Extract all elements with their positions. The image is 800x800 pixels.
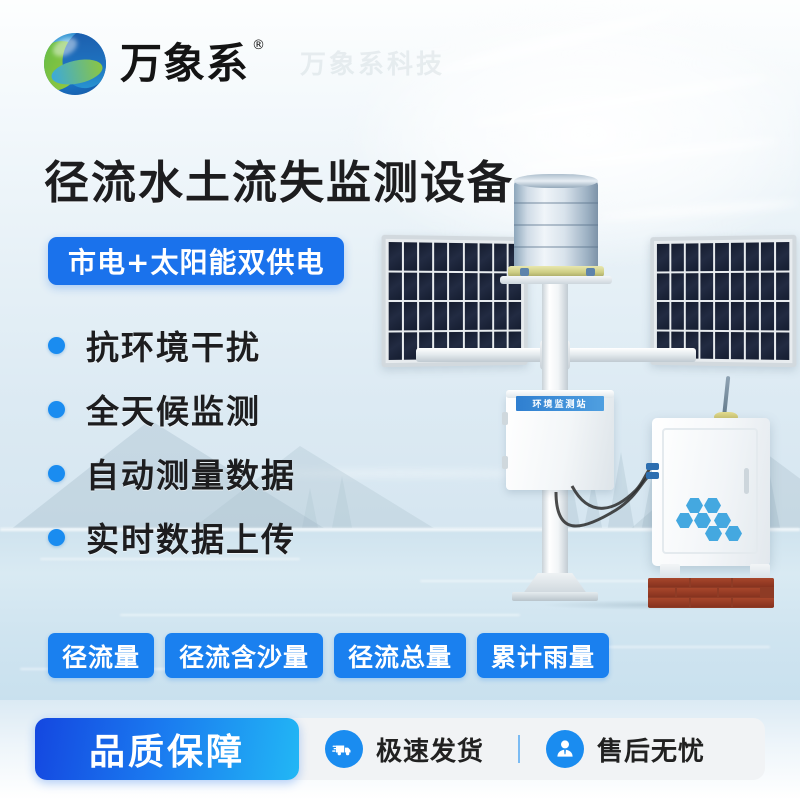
service-item-aftersales: 售后无忧	[546, 730, 705, 768]
feature-label: 自动测量数据	[86, 449, 296, 497]
list-item: 自动测量数据	[48, 441, 378, 505]
service-divider	[518, 735, 520, 763]
brand-name: 万象系 ®	[120, 43, 249, 85]
metric-tag: 径流含沙量	[165, 633, 323, 678]
bullet-dot-icon	[48, 465, 65, 482]
product-illustration: 环境监测站	[380, 180, 800, 620]
service-item-shipping: 极速发货	[325, 730, 484, 768]
data-logger-hinge	[502, 456, 508, 469]
rain-gauge-band	[514, 224, 598, 226]
list-item: 实时数据上传	[48, 505, 378, 569]
brand-name-text: 万象系	[120, 39, 249, 88]
metric-tag-list: 径流量 径流含沙量 径流总量 累计雨量	[48, 633, 609, 678]
mast-foot-plate	[512, 592, 598, 601]
hexagon-pattern-icon	[672, 498, 746, 540]
metric-tag: 径流总量	[334, 633, 466, 678]
globe-swoosh-logo-icon	[44, 33, 106, 95]
rain-gauge-cylinder	[514, 180, 598, 272]
feature-list: 抗环境干扰 全天候监测 自动测量数据 实时数据上传	[48, 313, 378, 569]
brick-foundation	[648, 578, 774, 608]
metric-tag: 累计雨量	[477, 633, 609, 678]
list-item: 抗环境干扰	[48, 313, 378, 377]
service-label: 极速发货	[376, 731, 484, 768]
service-bar: 品质保障 极速发货	[35, 718, 765, 780]
product-poster: 万象系科技 万象系 ® 径流水土流失监测设备 市电+太阳能双供电 抗环境干扰 全…	[0, 0, 800, 800]
bullet-dot-icon	[48, 529, 65, 546]
registered-trademark-icon: ®	[252, 39, 266, 52]
power-supply-badge: 市电+太阳能双供电	[48, 237, 344, 285]
rain-gauge-band	[514, 246, 598, 248]
data-logger-hinge	[502, 412, 508, 425]
service-label: 售后无忧	[597, 731, 705, 768]
cable-port	[646, 463, 659, 470]
bullet-dot-icon	[48, 401, 65, 418]
background-watermark: 万象系科技	[300, 44, 490, 92]
cable-port	[646, 472, 659, 479]
rain-gauge-band	[514, 202, 598, 204]
metric-tag: 径流量	[48, 633, 154, 678]
list-item: 全天候监测	[48, 377, 378, 441]
rain-gauge-clip-icon	[586, 268, 595, 276]
rain-gauge-mount-plate	[500, 276, 612, 284]
support-person-icon	[546, 730, 584, 768]
delivery-truck-icon	[325, 730, 363, 768]
feature-label: 抗环境干扰	[86, 321, 261, 369]
cabinet-handle	[744, 468, 749, 494]
feature-label: 实时数据上传	[86, 513, 296, 561]
rain-gauge-clip-icon	[520, 268, 529, 276]
quality-guarantee-badge: 品质保障	[35, 718, 299, 780]
rain-gauge-rim	[514, 174, 598, 188]
feature-label: 全天候监测	[86, 385, 261, 433]
brand-logo: 万象系 ®	[44, 33, 249, 95]
bullet-dot-icon	[48, 337, 65, 354]
data-logger-label: 环境监测站	[516, 396, 604, 411]
